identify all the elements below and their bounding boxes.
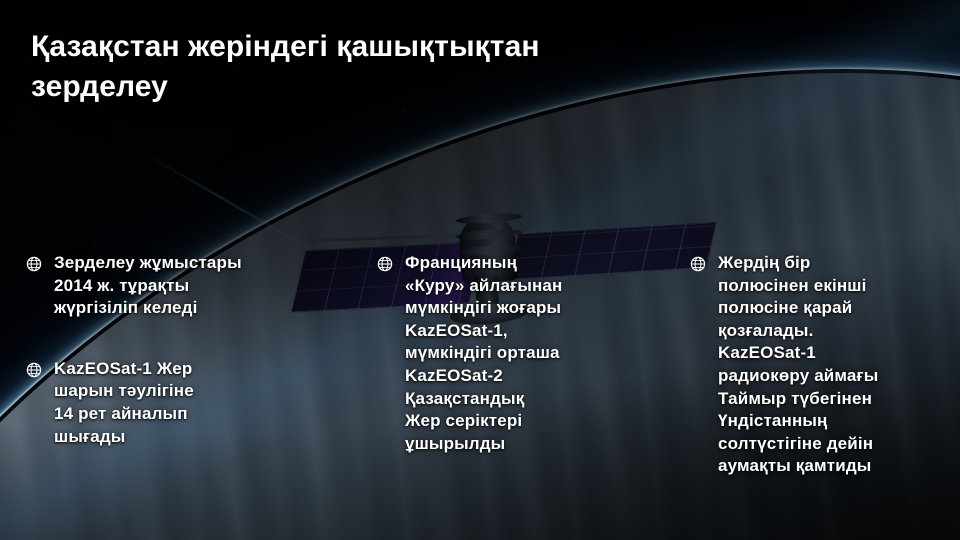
globe-icon xyxy=(377,256,393,272)
bullet-text: Жердің бір полюсінен екінші полюсіне қар… xyxy=(718,252,954,478)
slide-canvas: Қазақстан жеріндегі қашықтықтан зерделеу… xyxy=(0,0,960,540)
globe-icon xyxy=(26,256,42,272)
bullet-text: Францияның «Куру» айлағынан мүмкіндігі ж… xyxy=(405,252,672,455)
column-3: Жердің бір полюсінен екінші полюсіне қар… xyxy=(680,252,960,482)
bullet-item: KazEOSat-1 Жер шарын тәулігіне 14 рет ай… xyxy=(26,358,363,448)
slide-title: Қазақстан жеріндегі қашықтықтан зерделеу xyxy=(31,27,751,107)
globe-icon xyxy=(690,256,706,272)
bullet-text: Зерделеу жұмыстары 2014 ж. тұрақты жүргі… xyxy=(54,252,363,320)
column-2: Францияның «Куру» айлағынан мүмкіндігі ж… xyxy=(375,252,680,459)
column-1: Зерделеу жұмыстары 2014 ж. тұрақты жүргі… xyxy=(0,252,375,452)
bullet-columns: Зерделеу жұмыстары 2014 ж. тұрақты жүргі… xyxy=(0,252,960,482)
bullet-text: KazEOSat-1 Жер шарын тәулігіне 14 рет ай… xyxy=(54,358,363,448)
bullet-item: Зерделеу жұмыстары 2014 ж. тұрақты жүргі… xyxy=(26,252,363,320)
globe-icon xyxy=(26,362,42,378)
bullet-item: Жердің бір полюсінен екінші полюсіне қар… xyxy=(690,252,954,478)
bullet-item: Францияның «Куру» айлағынан мүмкіндігі ж… xyxy=(377,252,672,455)
satellite-strut xyxy=(133,146,307,248)
